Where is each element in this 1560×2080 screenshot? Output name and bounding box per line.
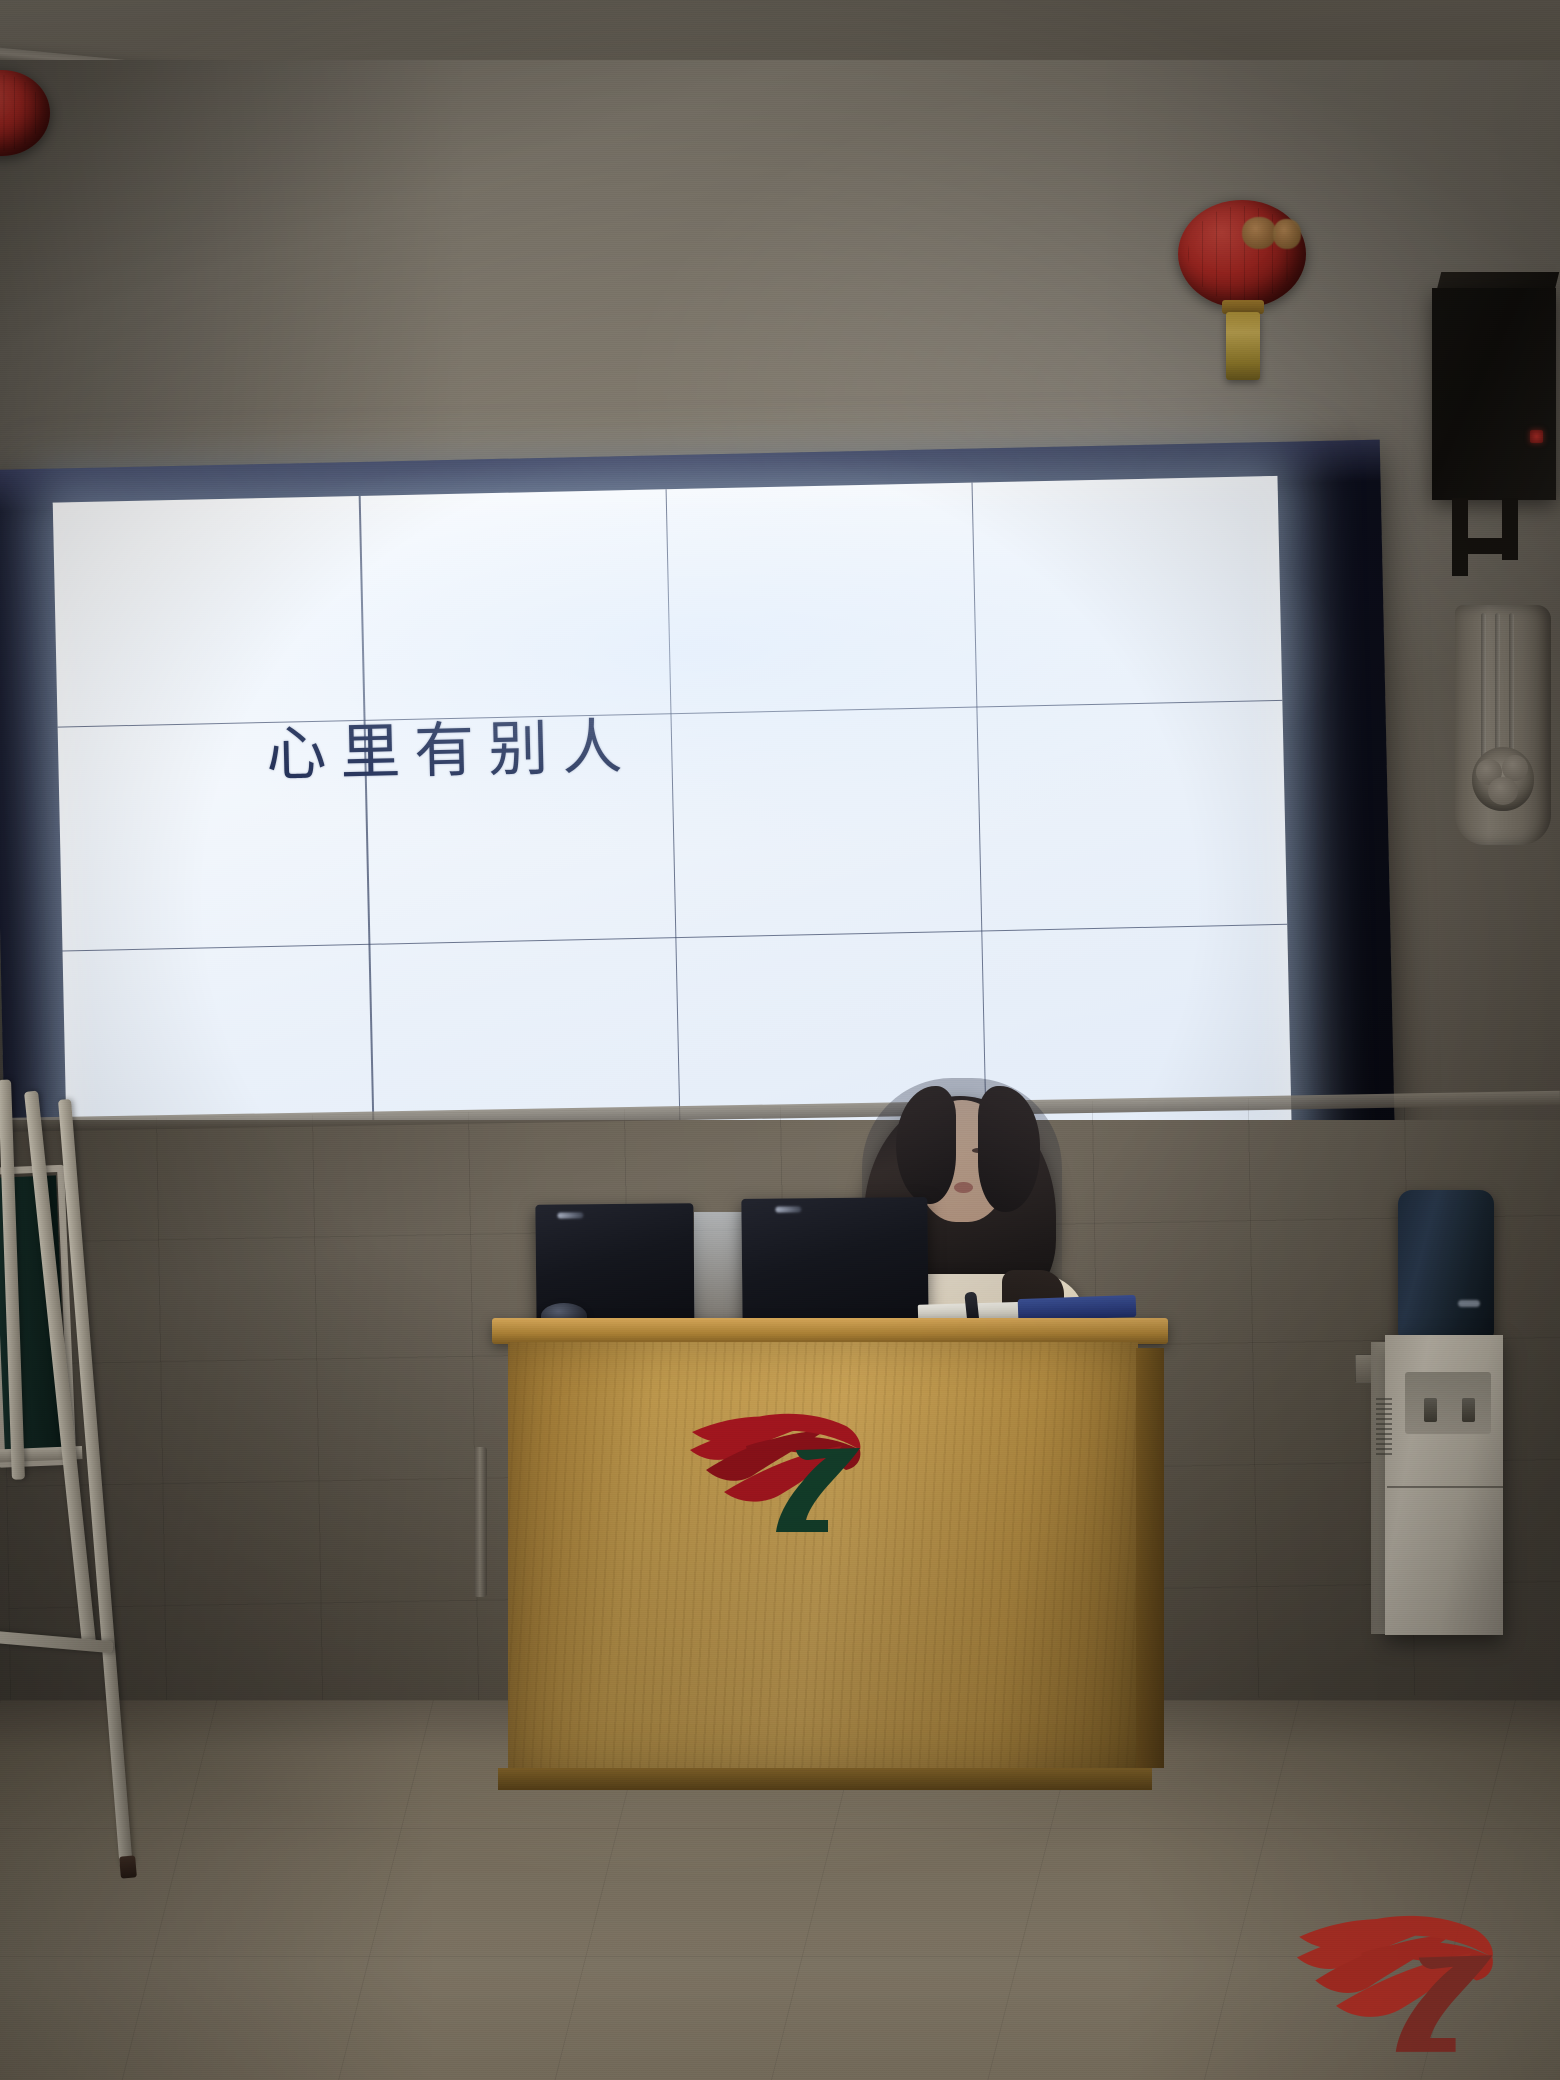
- corbel-flower-icon: [1472, 747, 1534, 811]
- panel-seam-vertical: [665, 489, 681, 1159]
- laptop-left-lid-reflection: [557, 1212, 583, 1218]
- panel-seam-vertical: [359, 496, 375, 1166]
- water-bottle-highlight: [1458, 1300, 1480, 1307]
- panel-seam-vertical: [971, 483, 987, 1153]
- podium: [500, 1318, 1160, 1798]
- flame-seven-watermark: [1290, 1885, 1520, 2060]
- presenter-hair-front-right: [978, 1086, 1040, 1212]
- easel-foot-tip: [119, 1855, 137, 1878]
- water-bottle: [1398, 1190, 1494, 1338]
- dispenser-tap-cold[interactable]: [1424, 1398, 1437, 1422]
- plaster-corbel-ornament: [1455, 605, 1551, 845]
- dispenser-recess-panel: [1405, 1372, 1491, 1434]
- presenter-hair-front-left: [896, 1086, 956, 1204]
- flame-seven-logo: [684, 1388, 884, 1538]
- slide-headline-text: 心里有别人: [265, 698, 637, 793]
- podium-side-panel: [1136, 1348, 1164, 1768]
- screen-display-surface[interactable]: 心里有别人: [53, 476, 1292, 1173]
- dispenser-door-seam: [1387, 1486, 1503, 1488]
- presenter-mouth: [954, 1182, 973, 1193]
- red-lantern-left: [0, 70, 50, 156]
- dispenser-vent: [1376, 1398, 1392, 1456]
- laptop-right-lid-reflection: [775, 1206, 801, 1212]
- dispenser-tap-hot[interactable]: [1462, 1398, 1475, 1422]
- photo-scene: 心里有别人: [0, 0, 1560, 2080]
- podium-base: [498, 1768, 1152, 1790]
- speaker-badge-icon: [1530, 430, 1543, 443]
- laptop-right[interactable]: [741, 1197, 928, 1331]
- podium-worktop: [492, 1318, 1168, 1344]
- laptop-gap-glow: [694, 1212, 746, 1324]
- wall-conduit-pipe: [474, 1447, 487, 1597]
- red-lantern-right: [1178, 200, 1306, 308]
